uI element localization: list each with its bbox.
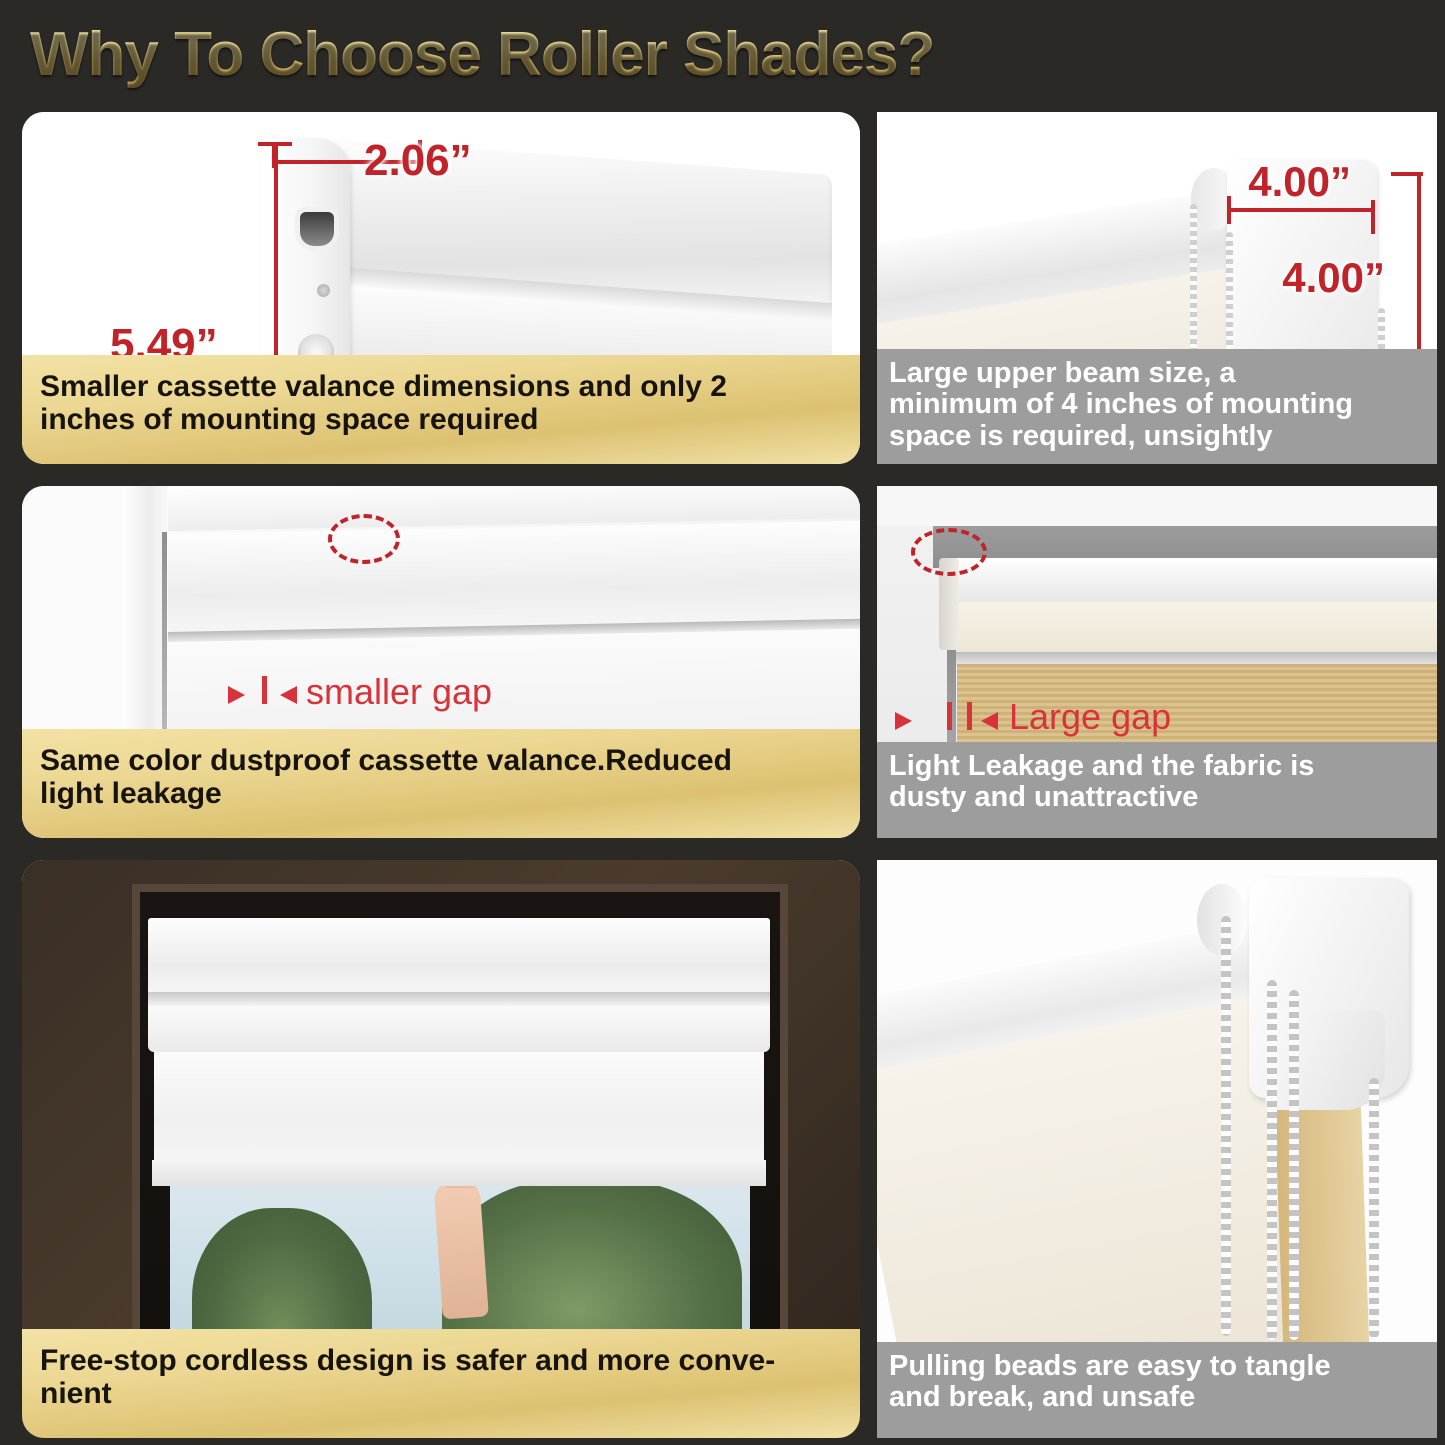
gap-label: smaller gap	[306, 671, 492, 713]
gap-marker-2	[967, 702, 972, 730]
hand	[433, 1177, 489, 1320]
width-dimension-label: 2.06”	[364, 136, 472, 186]
caption-middle-left: Same color dustproof cassette valance.Re…	[22, 729, 860, 838]
caption-line: light leakage	[40, 778, 732, 810]
caption-line: Light Leakage and the fabric is	[889, 751, 1314, 782]
caption-line: minimum of 4 inches of mounting	[889, 389, 1353, 420]
caption-line: Pulling beads are easy to tangle	[889, 1351, 1331, 1382]
caption-line: Free-stop cordless design is safer and m…	[40, 1345, 775, 1377]
bead-chain	[1221, 916, 1231, 1336]
panel-top-left: 2.06” 5.49” Smaller cassette valance dim…	[22, 112, 860, 464]
gap-marker	[262, 676, 267, 704]
bead-chain	[1369, 1078, 1379, 1338]
caption-top-right: Large upper beam size, a minimum of 4 in…	[877, 349, 1437, 464]
gap-arrow-left-icon	[228, 686, 245, 704]
panel-bottom-right: Pulling beads are easy to tangle and bre…	[877, 860, 1437, 1438]
caption-top-left: Smaller cassette valance dimensions and …	[22, 355, 860, 464]
gap-arrow-right-icon	[280, 686, 297, 704]
caption-line: nient	[40, 1378, 775, 1410]
width-tick-left	[1227, 196, 1231, 224]
width-dimension-line	[1227, 208, 1373, 212]
panel-top-right: 4.00” 4.00” Large upper beam size, a min…	[877, 112, 1437, 464]
caption-line: Same color dustproof cassette valance.Re…	[40, 745, 732, 777]
width-dimension-label: 4.00”	[1248, 158, 1351, 206]
bead-chain	[1289, 990, 1299, 1340]
page-header: Why To Choose Roller Shades?	[0, 0, 1445, 108]
height-dimension-label: 4.00”	[1282, 254, 1385, 302]
gap-arrow-left-icon	[895, 712, 912, 730]
caption-line: and break, and unsafe	[889, 1382, 1331, 1413]
caption-line: Smaller cassette valance dimensions and …	[40, 371, 727, 403]
caption-line: inches of mounting space required	[40, 404, 727, 436]
gap-marker	[947, 702, 952, 730]
panel-middle-right: Large gap Light Leakage and the fabric i…	[877, 486, 1437, 838]
highlight-ellipse-icon	[328, 514, 400, 564]
caption-line: dusty and unattractive	[889, 782, 1314, 813]
panel-middle-left: smaller gap Same color dustproof cassett…	[22, 486, 860, 838]
height-tick-top	[258, 142, 292, 146]
caption-bottom-left: Free-stop cordless design is safer and m…	[22, 1329, 860, 1438]
caption-bottom-right: Pulling beads are easy to tangle and bre…	[877, 1342, 1437, 1438]
caption-middle-right: Light Leakage and the fabric is dusty an…	[877, 742, 1437, 838]
height-tick-top	[1391, 172, 1423, 176]
gap-arrow-right-icon	[981, 712, 998, 730]
bead-chain	[1267, 980, 1277, 1340]
caption-line: Large upper beam size, a	[889, 358, 1353, 389]
highlight-ellipse-icon	[911, 528, 987, 576]
page-title: Why To Choose Roller Shades?	[0, 19, 934, 90]
panel-bottom-left: Free-stop cordless design is safer and m…	[22, 860, 860, 1438]
gap-label: Large gap	[1009, 696, 1171, 738]
width-tick-right	[1371, 200, 1375, 234]
caption-line: space is required, unsightly	[889, 421, 1353, 452]
comparison-grid: 2.06” 5.49” Smaller cassette valance dim…	[0, 108, 1445, 1445]
